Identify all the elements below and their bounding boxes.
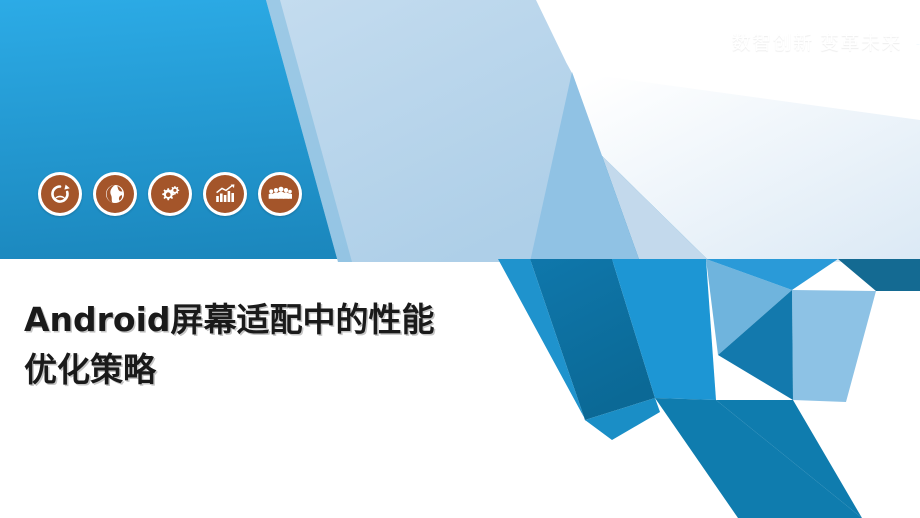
gears-icon	[158, 182, 182, 206]
title-line-1: Android屏幕适配中的性能	[24, 295, 544, 345]
icon-core	[96, 175, 134, 213]
icon-badge-gears[interactable]	[148, 172, 192, 216]
icon-core	[151, 175, 189, 213]
icon-badge-chart[interactable]	[203, 172, 247, 216]
icon-core	[206, 175, 244, 213]
title-line-2: 优化策略	[24, 345, 544, 395]
bar-chart-growth-icon	[213, 182, 237, 206]
slide-tagline: 数智创新 变革未来	[732, 28, 902, 55]
icon-core	[261, 175, 299, 213]
icon-badge-refresh[interactable]	[38, 172, 82, 216]
icon-badge-people[interactable]	[258, 172, 302, 216]
presentation-slide: 数智创新 变革未来	[0, 0, 920, 518]
slide-title: Android屏幕适配中的性能 优化策略	[24, 295, 544, 395]
globe-icon	[103, 182, 127, 206]
icon-badge-globe[interactable]	[93, 172, 137, 216]
people-group-icon	[268, 182, 292, 206]
refresh-arrow-icon	[48, 182, 72, 206]
icon-core	[41, 175, 79, 213]
icon-strip	[38, 172, 302, 216]
background-artwork	[0, 0, 920, 518]
